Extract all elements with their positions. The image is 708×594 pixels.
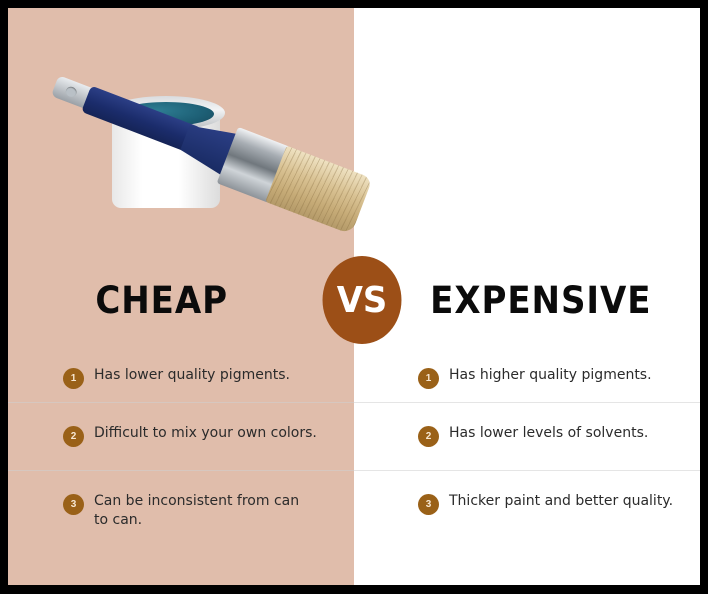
list-item: 3 Can be inconsistent from can to can. (63, 492, 313, 530)
item-text: Has lower levels of solvents. (449, 424, 648, 443)
item-number-badge: 1 (63, 368, 84, 389)
item-number-badge: 2 (418, 426, 439, 447)
infographic-canvas: CHEAP EXPENSIVE VS 1 Has lower quality p… (8, 8, 700, 585)
item-number-badge: 3 (63, 494, 84, 515)
list-item: 1 Has higher quality pigments. (418, 366, 680, 389)
item-number-badge: 1 (418, 368, 439, 389)
item-text: Has higher quality pigments. (449, 366, 652, 385)
item-text: Has lower quality pigments. (94, 366, 290, 385)
comparison-rows: 1 Has lower quality pigments. 2 Difficul… (8, 352, 700, 585)
row-divider-2 (8, 470, 700, 471)
item-text: Can be inconsistent from can to can. (94, 492, 313, 530)
list-item: 2 Difficult to mix your own colors. (63, 424, 323, 447)
expensive-paint-can-image (354, 8, 700, 248)
list-item: 3 Thicker paint and better quality. (418, 492, 680, 515)
item-text: Difficult to mix your own colors. (94, 424, 317, 443)
row-divider-1 (8, 402, 700, 403)
list-item: 2 Has lower levels of solvents. (418, 424, 680, 447)
expensive-title: EXPENSIVE (368, 248, 686, 352)
item-number-badge: 3 (418, 494, 439, 515)
vs-badge: VS (323, 256, 402, 344)
item-number-badge: 2 (63, 426, 84, 447)
cheap-title: CHEAP (22, 248, 340, 352)
image-frame: CHEAP EXPENSIVE VS 1 Has lower quality p… (0, 0, 708, 594)
list-item: 1 Has lower quality pigments. (63, 366, 323, 389)
cheap-paint-can-image (8, 8, 354, 248)
item-text: Thicker paint and better quality. (449, 492, 673, 511)
